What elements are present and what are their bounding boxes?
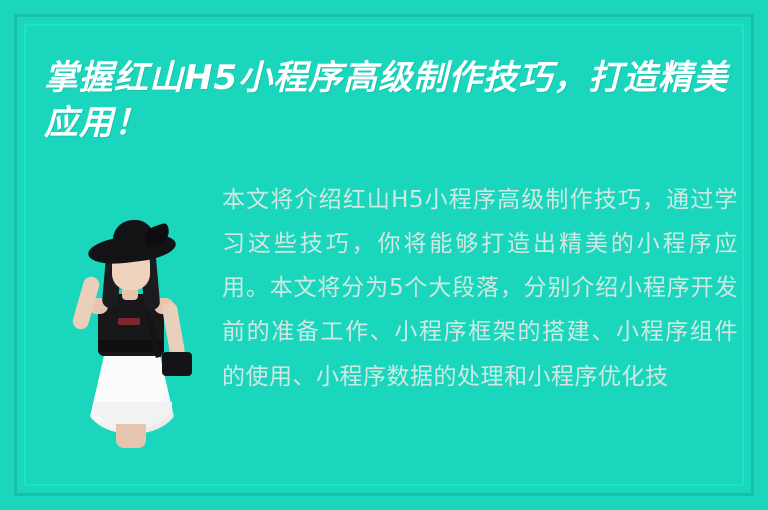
- illustration-woman: [58, 206, 210, 446]
- handbag-shape: [162, 352, 192, 376]
- poster-canvas: 掌握红山H5小程序高级制作技巧，打造精美应用！ 本文将介绍红山H5小程序高级制作…: [0, 0, 768, 510]
- legs-shape: [116, 424, 146, 448]
- right-arm-shape: [161, 301, 185, 359]
- page-title: 掌握红山H5小程序高级制作技巧，打造精美应用！: [44, 56, 734, 146]
- body-paragraph: 本文将介绍红山H5小程序高级制作技巧，通过学习这些技巧，你将能够打造出精美的小程…: [222, 178, 738, 399]
- top-logo-detail: [118, 318, 140, 325]
